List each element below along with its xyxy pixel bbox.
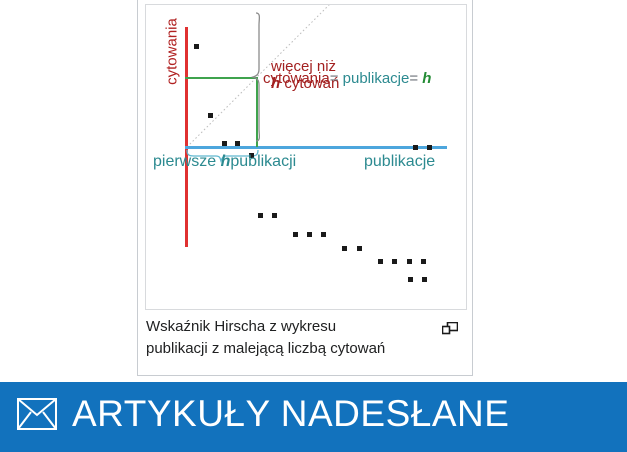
data-point <box>258 213 263 218</box>
image-caption: Wskaźnik Hirscha z wykresu publikacji z … <box>146 316 466 360</box>
h-index-chart: cytowania publikacje pierwsze hpublikacj… <box>146 5 466 309</box>
data-point <box>194 44 199 49</box>
submitted-articles-banner[interactable]: ARTYKUŁY NADESŁANE <box>0 382 627 452</box>
figure-image-frame[interactable]: cytowania publikacje pierwsze hpublikacj… <box>145 4 467 310</box>
data-point <box>413 145 418 150</box>
equation-equals-2: = <box>409 70 418 87</box>
data-point <box>407 259 412 264</box>
first-h-publications-label: pierwsze hpublikacji <box>153 153 296 171</box>
equation-publications: publikacje <box>343 70 410 87</box>
data-point <box>408 277 413 282</box>
data-point <box>222 141 227 146</box>
equation-citations: cytowania <box>263 70 330 87</box>
data-point <box>235 141 240 146</box>
h-equation-annotation: cytowania= publikacje= h <box>263 70 431 87</box>
data-point <box>378 259 383 264</box>
data-point <box>208 113 213 118</box>
data-point <box>293 232 298 237</box>
data-point <box>272 213 277 218</box>
data-point <box>392 259 397 264</box>
first-h-prefix: pierwsze <box>153 153 216 170</box>
equation-equals-1: = <box>330 70 339 87</box>
x-axis-label: publikacje <box>364 153 435 171</box>
enlarge-icon[interactable] <box>442 322 458 335</box>
data-point <box>421 259 426 264</box>
envelope-icon <box>17 398 57 430</box>
data-point <box>427 145 432 150</box>
data-point <box>357 246 362 251</box>
data-point <box>342 246 347 251</box>
caption-line-1: Wskaźnik Hirscha z wykresu <box>146 316 466 338</box>
image-thumbnail-container[interactable]: cytowania publikacje pierwsze hpublikacj… <box>137 0 473 376</box>
caption-line-2: publikacji z malejącą liczbą cytowań <box>146 338 466 360</box>
h-index-box <box>185 77 258 147</box>
equation-h-symbol: h <box>422 70 431 87</box>
data-point <box>307 232 312 237</box>
first-h-symbol: h <box>221 153 231 170</box>
data-point <box>321 232 326 237</box>
data-point <box>422 277 427 282</box>
y-axis-label: cytowania <box>164 7 181 97</box>
banner-title: ARTYKUŁY NADESŁANE <box>72 393 509 435</box>
first-h-suffix: publikacji <box>230 153 296 170</box>
